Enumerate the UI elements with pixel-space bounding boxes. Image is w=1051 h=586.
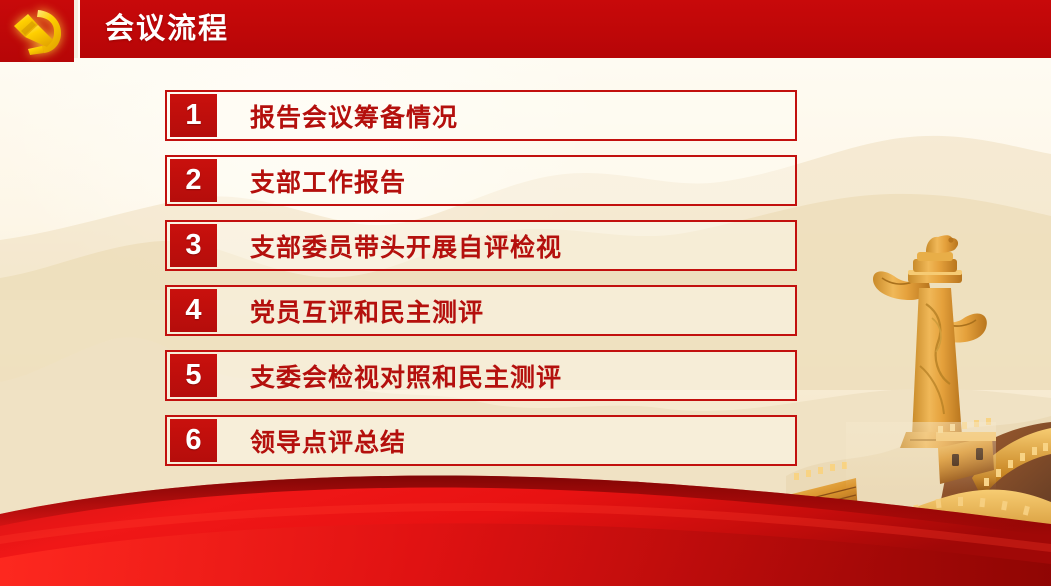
agenda-item-2[interactable]: 2 支部工作报告 — [165, 155, 797, 206]
agenda-item-number: 5 — [170, 354, 217, 397]
agenda-item-number: 4 — [170, 289, 217, 332]
huabiao-column-great-wall-icon — [786, 226, 1051, 586]
agenda-item-6[interactable]: 6 领导点评总结 — [165, 415, 797, 466]
red-silk-ribbon-icon — [0, 466, 1051, 586]
agenda-item-label: 党员互评和民主测评 — [250, 293, 484, 329]
agenda-item-label: 支委会检视对照和民主测评 — [250, 358, 562, 394]
agenda-item-1[interactable]: 1 报告会议筹备情况 — [165, 90, 797, 141]
party-emblem-logo — [0, 0, 74, 62]
slide-canvas: 会议流程 1 报告会议筹备情况 2 支部工作报告 3 支部委员带头开展自评检视 … — [0, 0, 1051, 586]
agenda-item-label: 报告会议筹备情况 — [250, 98, 458, 134]
agenda-item-label: 支部委员带头开展自评检视 — [250, 228, 562, 264]
page-title: 会议流程 — [105, 8, 229, 50]
hammer-and-sickle-icon — [8, 6, 66, 56]
agenda-item-number: 1 — [170, 94, 217, 137]
agenda-item-label: 支部工作报告 — [250, 163, 406, 199]
agenda-item-3[interactable]: 3 支部委员带头开展自评检视 — [165, 220, 797, 271]
agenda-item-4[interactable]: 4 党员互评和民主测评 — [165, 285, 797, 336]
agenda-item-number: 6 — [170, 419, 217, 462]
agenda-item-label: 领导点评总结 — [250, 423, 406, 459]
agenda-item-5[interactable]: 5 支委会检视对照和民主测评 — [165, 350, 797, 401]
agenda-item-number: 2 — [170, 159, 217, 202]
agenda-list: 1 报告会议筹备情况 2 支部工作报告 3 支部委员带头开展自评检视 4 党员互… — [165, 90, 797, 480]
agenda-item-number: 3 — [170, 224, 217, 267]
